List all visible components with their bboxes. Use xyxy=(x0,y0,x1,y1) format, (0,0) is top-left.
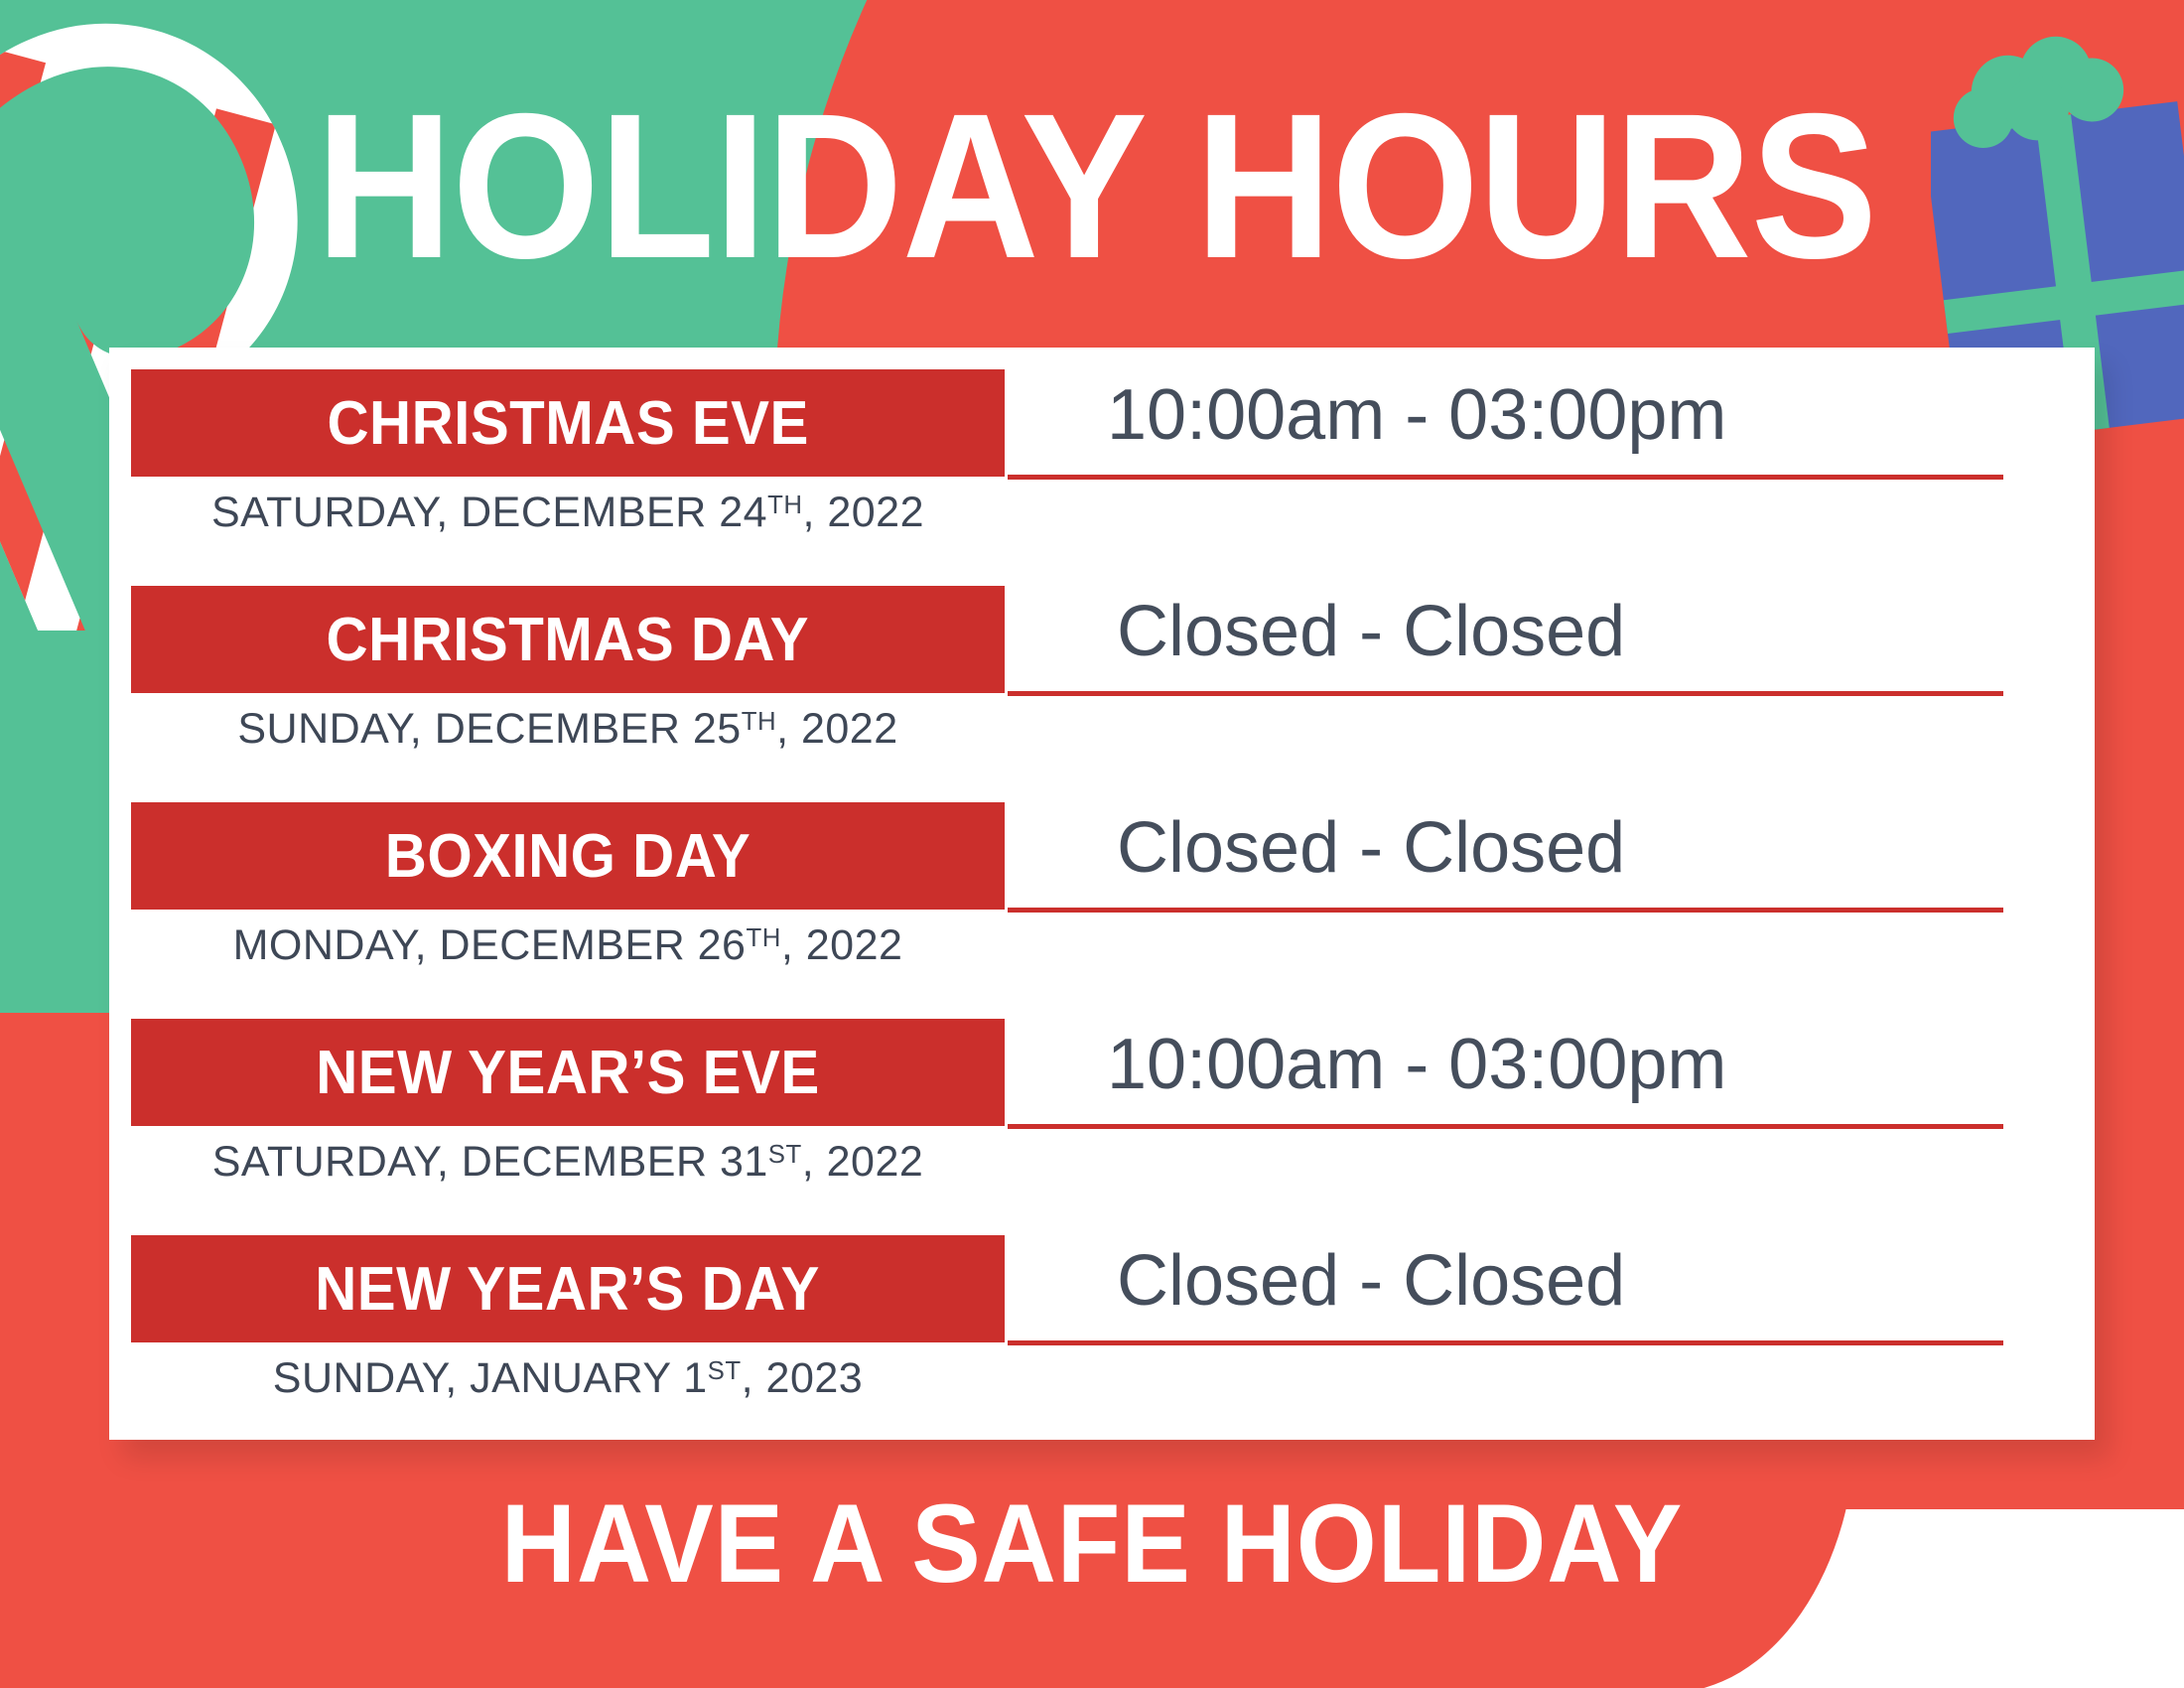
table-row: BOXING DAY MONDAY, DECEMBER 26TH, 2022 C… xyxy=(109,780,2095,997)
date-suffix: , 2022 xyxy=(781,921,903,969)
holiday-name: CHRISTMAS EVE xyxy=(327,388,808,459)
table-row: CHRISTMAS EVE SATURDAY, DECEMBER 24TH, 2… xyxy=(109,348,2095,564)
holiday-date: SATURDAY, DECEMBER 31ST, 2022 xyxy=(131,1138,1005,1187)
date-prefix: MONDAY, DECEMBER 26 xyxy=(233,921,747,969)
date-ordinal: ST xyxy=(768,1141,802,1169)
holiday-hours-poster: HOLIDAY HOURS CHRISTMAS EVE SATURDAY, DE… xyxy=(0,0,2184,1688)
holiday-name-band: NEW YEAR’S EVE xyxy=(131,1019,1005,1126)
holiday-hours: Closed - Closed xyxy=(1008,786,2000,910)
holiday-date: SATURDAY, DECEMBER 24TH, 2022 xyxy=(131,489,1005,537)
holiday-name-band: CHRISTMAS EVE xyxy=(131,369,1005,477)
holiday-name-band: BOXING DAY xyxy=(131,802,1005,910)
table-row: CHRISTMAS DAY SUNDAY, DECEMBER 25TH, 202… xyxy=(109,564,2095,780)
date-ordinal: ST xyxy=(708,1357,742,1385)
date-prefix: SATURDAY, DECEMBER 31 xyxy=(212,1138,768,1186)
holiday-name-band: NEW YEAR’S DAY xyxy=(131,1235,1005,1342)
date-prefix: SUNDAY, DECEMBER 25 xyxy=(237,705,741,753)
date-ordinal: TH xyxy=(746,924,780,952)
holiday-date: SUNDAY, JANUARY 1ST, 2023 xyxy=(131,1354,1005,1403)
date-suffix: , 2022 xyxy=(802,489,924,536)
holiday-hours: 10:00am - 03:00pm xyxy=(1008,353,2000,477)
holiday-name: BOXING DAY xyxy=(385,821,751,892)
holiday-name: CHRISTMAS DAY xyxy=(327,605,809,675)
date-prefix: SUNDAY, JANUARY 1 xyxy=(273,1354,708,1402)
date-suffix: , 2022 xyxy=(776,705,898,753)
holiday-date: MONDAY, DECEMBER 26TH, 2022 xyxy=(131,921,1005,970)
date-ordinal: TH xyxy=(742,708,776,736)
page-title: HOLIDAY HOURS xyxy=(316,87,1795,286)
date-suffix: , 2022 xyxy=(802,1138,924,1186)
holiday-name-band: CHRISTMAS DAY xyxy=(131,586,1005,693)
holiday-name: NEW YEAR’S EVE xyxy=(316,1038,819,1108)
holiday-hours: Closed - Closed xyxy=(1008,570,2000,693)
date-ordinal: TH xyxy=(767,492,802,519)
tagline: HAVE A SAFE HOLIDAY xyxy=(76,1479,2108,1608)
date-prefix: SATURDAY, DECEMBER 24 xyxy=(211,489,767,536)
date-suffix: , 2023 xyxy=(742,1354,864,1402)
holiday-date: SUNDAY, DECEMBER 25TH, 2022 xyxy=(131,705,1005,754)
hours-table: CHRISTMAS EVE SATURDAY, DECEMBER 24TH, 2… xyxy=(109,348,2095,1430)
holiday-hours: 10:00am - 03:00pm xyxy=(1008,1003,2000,1126)
table-row: NEW YEAR’S DAY SUNDAY, JANUARY 1ST, 2023… xyxy=(109,1213,2095,1430)
table-row: NEW YEAR’S EVE SATURDAY, DECEMBER 31ST, … xyxy=(109,997,2095,1213)
hours-card: CHRISTMAS EVE SATURDAY, DECEMBER 24TH, 2… xyxy=(109,348,2095,1440)
holiday-hours: Closed - Closed xyxy=(1008,1219,2000,1342)
holiday-name: NEW YEAR’S DAY xyxy=(316,1254,821,1325)
